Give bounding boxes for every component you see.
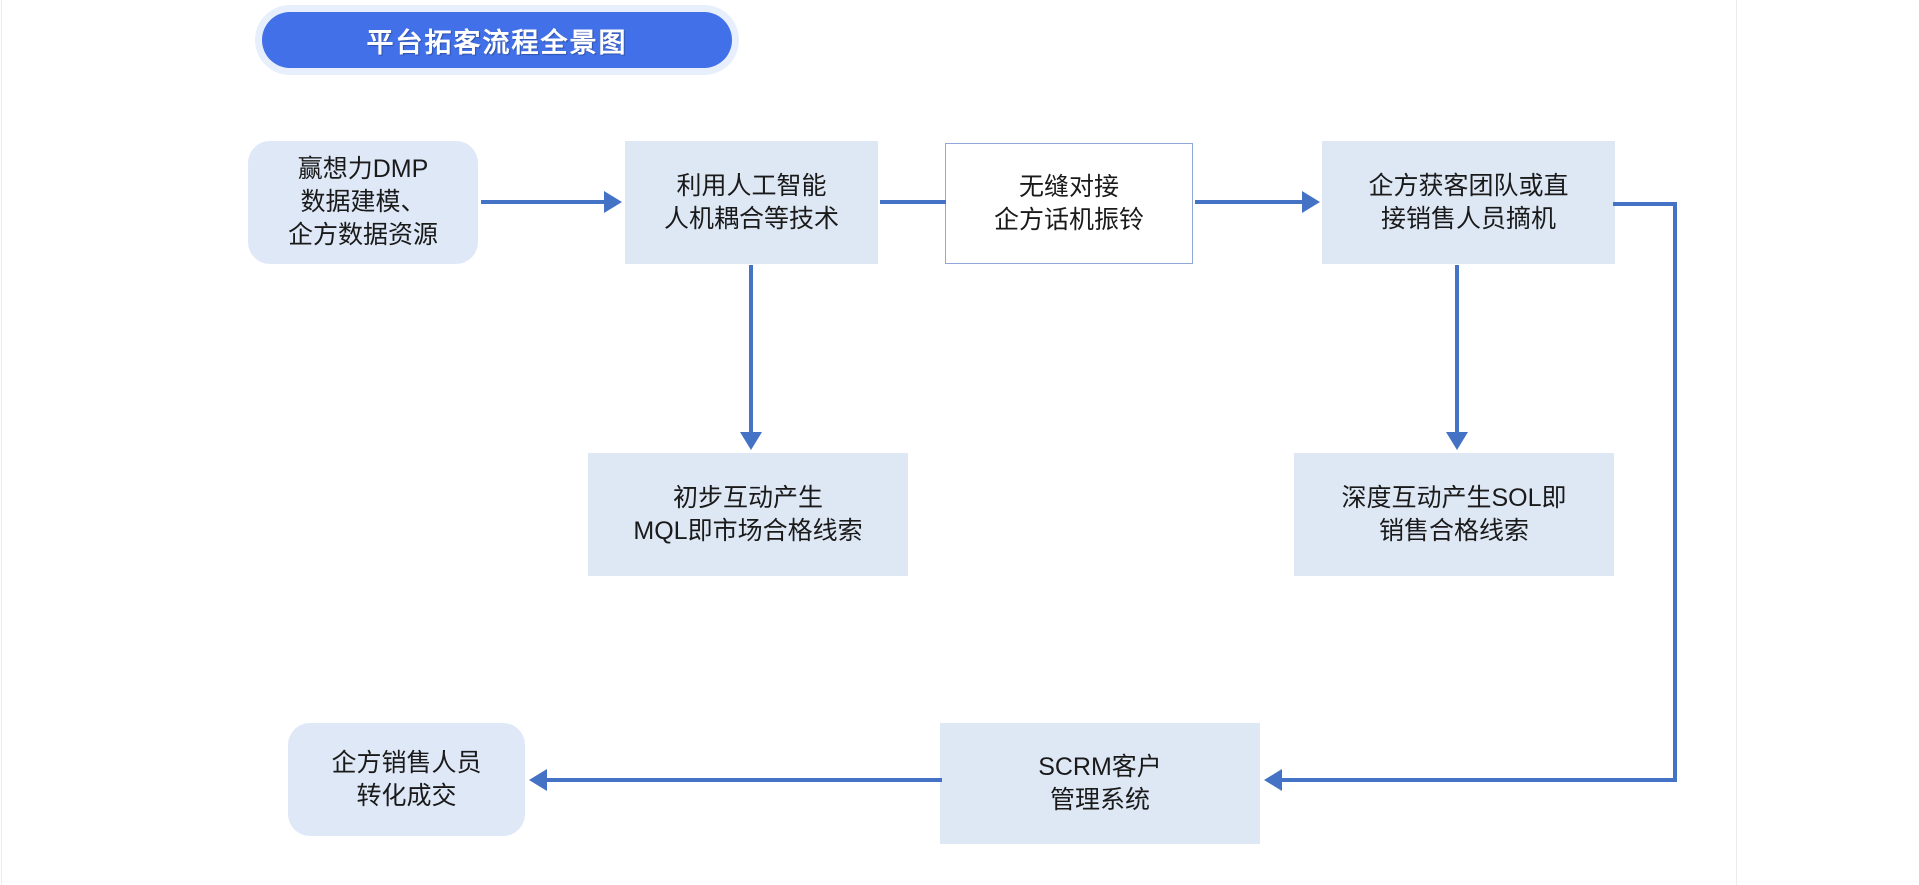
edge-line <box>481 200 607 204</box>
node-dmp[interactable]: 赢想力DMP 数据建模、 企方数据资源 <box>248 141 478 264</box>
node-seamless-ring[interactable]: 无缝对接 企方话机振铃 <box>945 143 1193 264</box>
edge-line <box>1455 265 1459 435</box>
arrowhead-right-icon <box>604 191 622 213</box>
edge-line <box>1195 200 1305 204</box>
page-gutter-left-rule <box>1 0 2 885</box>
arrowhead-down-icon <box>1446 432 1468 450</box>
edge-segment-right <box>1673 202 1677 782</box>
node-ai-technology[interactable]: 利用人工智能 人机耦合等技术 <box>625 141 878 264</box>
page-gutter-right-rule <box>1736 0 1737 885</box>
edge-segment-bottom <box>1280 778 1677 782</box>
node-sol[interactable]: 深度互动产生SOL即 销售合格线索 <box>1294 453 1614 576</box>
diagram-title-badge: 平台拓客流程全景图 <box>262 12 732 68</box>
node-close-deal[interactable]: 企方销售人员 转化成交 <box>288 723 525 836</box>
edge-line <box>880 200 946 204</box>
edge-segment-top <box>1613 202 1677 206</box>
diagram-title-text: 平台拓客流程全景图 <box>367 21 628 60</box>
arrowhead-right-icon <box>1302 191 1320 213</box>
edge-line <box>545 778 942 782</box>
node-pickup-team[interactable]: 企方获客团队或直 接销售人员摘机 <box>1322 141 1615 264</box>
arrowhead-down-icon <box>740 432 762 450</box>
arrowhead-left-icon <box>529 769 547 791</box>
node-mql[interactable]: 初步互动产生 MQL即市场合格线索 <box>588 453 908 576</box>
node-scrm[interactable]: SCRM客户 管理系统 <box>940 723 1260 844</box>
edge-line <box>749 265 753 435</box>
arrowhead-left-icon <box>1264 769 1282 791</box>
flowchart-canvas: 平台拓客流程全景图 赢想力DMP 数据建模、 企方数据资源 利用人工智能 人机耦… <box>0 0 1919 885</box>
